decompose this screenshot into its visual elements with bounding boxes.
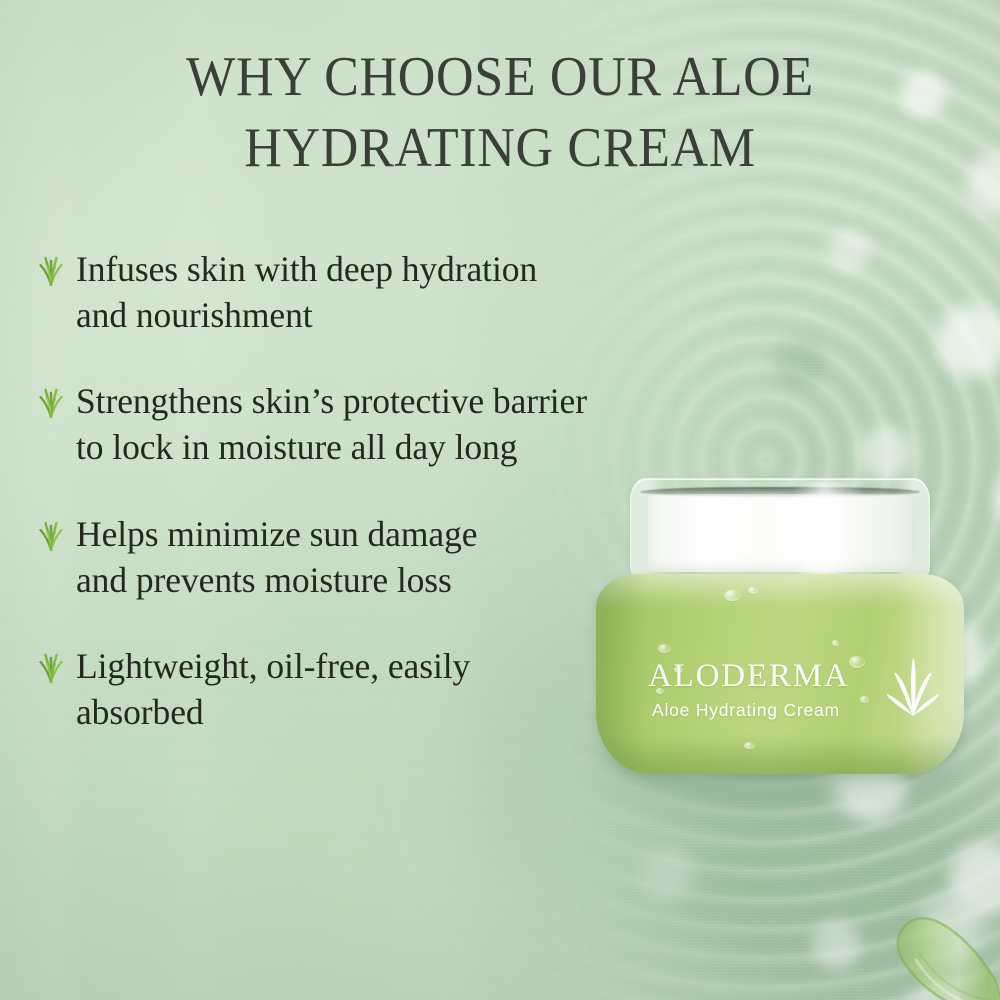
page-title: WHY CHOOSE OUR ALOE HYDRATING CREAM <box>35 42 965 184</box>
benefit-text: Helps minimize sun damage and prevents m… <box>76 511 477 603</box>
jar-lid-inner-cap <box>648 494 912 572</box>
water-droplet <box>658 644 671 653</box>
list-item: Strengthens skin’s protective barrier to… <box>36 378 736 470</box>
aloe-plant-logo-icon <box>886 654 940 716</box>
jar-product-name: Aloe Hydrating Cream <box>652 700 840 721</box>
benefit-text: Lightweight, oil-free, easily absorbed <box>76 643 470 735</box>
aloe-sprout-icon <box>36 517 66 551</box>
water-droplet <box>748 587 758 594</box>
jar-lid-rim <box>640 487 920 497</box>
aloe-sprout-icon <box>36 384 66 418</box>
jar-lid-highlight <box>792 482 864 582</box>
benefit-text: Infuses skin with deep hydration and nou… <box>76 246 537 338</box>
benefit-text: Strengthens skin’s protective barrier to… <box>76 378 587 470</box>
water-droplet <box>744 742 755 749</box>
list-item: Infuses skin with deep hydration and nou… <box>36 246 736 338</box>
jar-bottom-shade <box>596 736 964 774</box>
aloe-sprout-icon <box>36 649 66 683</box>
water-droplet <box>860 696 869 703</box>
water-droplet <box>849 656 865 668</box>
product-jar: ALODERMA Aloe Hydrating Cream <box>596 478 964 790</box>
jar-brand-name: ALODERMA <box>648 658 850 695</box>
water-droplet <box>832 640 839 646</box>
aloe-sprout-icon <box>36 252 66 286</box>
water-droplet <box>724 590 741 601</box>
product-benefits-infographic: WHY CHOOSE OUR ALOE HYDRATING CREAM <box>0 0 1000 1000</box>
